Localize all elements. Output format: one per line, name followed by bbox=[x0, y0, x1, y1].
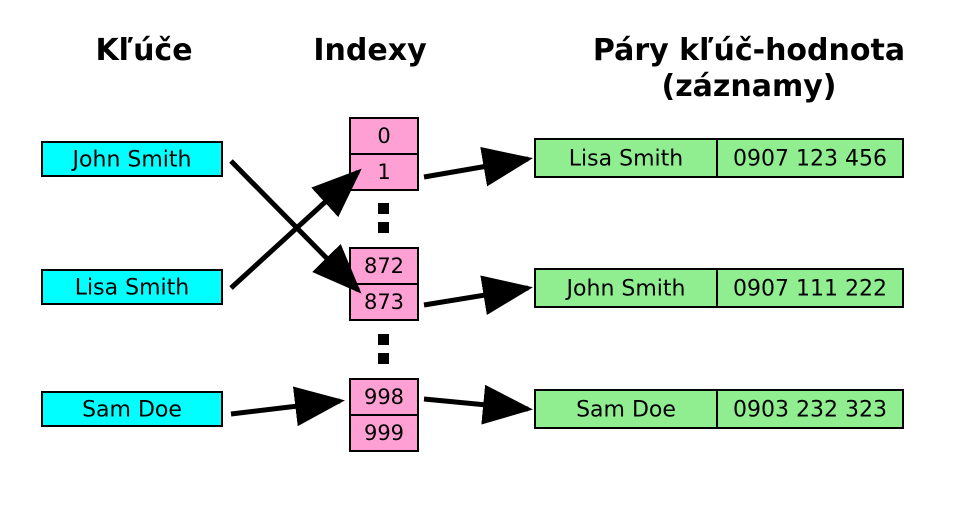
index-ellipsis-lower bbox=[378, 334, 389, 364]
index-cell-label: 873 bbox=[364, 290, 404, 314]
index-ellipsis-upper bbox=[378, 203, 389, 233]
key-label: Lisa Smith bbox=[75, 276, 189, 301]
index-group-0-1[interactable]: 0 1 bbox=[350, 118, 418, 190]
heading-records-line1: Páry kľúč-hodnota bbox=[593, 33, 905, 68]
index-cell-label: 998 bbox=[364, 385, 404, 409]
hash-table-diagram: Kľúče Indexy Páry kľúč-hodnota (záznamy)… bbox=[0, 0, 953, 512]
index-cell-label: 1 bbox=[377, 160, 390, 184]
index-cell-label: 0 bbox=[377, 124, 390, 148]
index-group-998-999[interactable]: 998 999 bbox=[350, 379, 418, 451]
record-box-sam-doe[interactable]: Sam Doe 0903 232 323 bbox=[535, 390, 903, 428]
arrow-index-873-to-record-john-smith bbox=[424, 288, 528, 305]
arrow-index-998-to-record-sam-doe bbox=[424, 399, 528, 409]
key-box-lisa-smith[interactable]: Lisa Smith bbox=[42, 270, 222, 304]
record-name: Lisa Smith bbox=[569, 147, 683, 172]
arrow-index-1-to-record-lisa-smith bbox=[424, 159, 528, 177]
arrow-sam-doe-to-index-998 bbox=[231, 401, 340, 414]
record-box-john-smith[interactable]: John Smith 0907 111 222 bbox=[535, 269, 903, 307]
heading-keys: Kľúče bbox=[95, 33, 192, 68]
heading-indexes: Indexy bbox=[313, 33, 427, 68]
heading-records-line2: (záznamy) bbox=[661, 69, 836, 104]
record-value: 0907 123 456 bbox=[733, 147, 887, 172]
record-value: 0903 232 323 bbox=[733, 398, 887, 423]
key-box-john-smith[interactable]: John Smith bbox=[42, 142, 222, 176]
key-box-sam-doe[interactable]: Sam Doe bbox=[42, 392, 222, 426]
record-name: Sam Doe bbox=[576, 398, 676, 423]
record-name: John Smith bbox=[565, 277, 686, 302]
record-box-lisa-smith[interactable]: Lisa Smith 0907 123 456 bbox=[535, 139, 903, 177]
diagram-canvas: Kľúče Indexy Páry kľúč-hodnota (záznamy)… bbox=[0, 0, 953, 512]
record-value: 0907 111 222 bbox=[733, 277, 887, 302]
index-cell-label: 872 bbox=[364, 254, 404, 278]
key-label: John Smith bbox=[71, 148, 192, 173]
index-cell-label: 999 bbox=[364, 421, 404, 445]
index-group-872-873[interactable]: 872 873 bbox=[350, 248, 418, 320]
key-label: Sam Doe bbox=[82, 398, 182, 423]
